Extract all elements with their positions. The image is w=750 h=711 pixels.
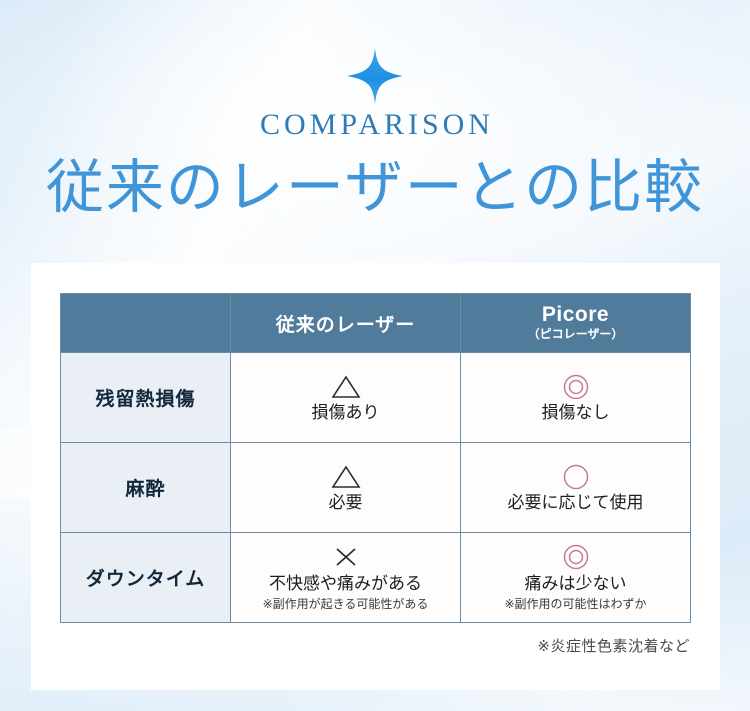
table-header-picore: Picore （ピコレーザー）	[461, 294, 691, 353]
row-label-downtime: ダウンタイム	[61, 533, 231, 623]
cell-text: 痛みは少ない	[461, 574, 690, 594]
section-eyebrow: COMPARISON	[0, 108, 750, 141]
triangle-mark	[231, 372, 460, 402]
sparkle-icon-wrapper	[0, 46, 750, 106]
row-label-anesthesia: 麻酔	[61, 443, 231, 533]
table-header-picore-title: Picore	[461, 304, 690, 325]
comparison-page: COMPARISON 従来のレーザーとの比較 従来のレーザー Picore （ピ…	[0, 0, 750, 711]
table-header-row: 従来のレーザー Picore （ピコレーザー）	[61, 294, 691, 353]
cell-text: 必要に応じて使用	[461, 493, 690, 513]
circle-icon	[561, 463, 591, 491]
triangle-icon	[331, 374, 361, 400]
cross-mark	[231, 543, 460, 573]
comparison-card: 従来のレーザー Picore （ピコレーザー） 残留熱損傷	[31, 263, 720, 690]
cross-icon	[333, 545, 359, 569]
table-head: 従来のレーザー Picore （ピコレーザー）	[61, 294, 691, 353]
table-header-conventional: 従来のレーザー	[231, 294, 461, 353]
cell-conventional-anesthesia: 必要	[231, 443, 461, 533]
cell-text: 損傷なし	[461, 403, 690, 423]
circle-mark	[461, 462, 690, 492]
table-row: ダウンタイム 不快感や痛みがある ※副作用が起きる可能性がある	[61, 533, 691, 623]
triangle-mark	[231, 462, 460, 492]
triangle-icon	[331, 464, 361, 490]
table-header-blank	[61, 294, 231, 353]
double-circle-icon	[561, 543, 591, 571]
double-circle-mark	[461, 543, 690, 573]
cell-note: ※副作用が起きる可能性がある	[231, 597, 460, 613]
cell-picore-anesthesia: 必要に応じて使用	[461, 443, 691, 533]
sparkle-icon	[344, 46, 406, 106]
cell-text: 不快感や痛みがある	[231, 574, 460, 594]
cell-text: 必要	[231, 493, 460, 513]
comparison-table: 従来のレーザー Picore （ピコレーザー） 残留熱損傷	[60, 293, 691, 623]
double-circle-mark	[461, 372, 690, 402]
table-footnote: ※炎症性色素沈着など	[60, 635, 690, 656]
row-label-residual-heat: 残留熱損傷	[61, 353, 231, 443]
cell-conventional-downtime: 不快感や痛みがある ※副作用が起きる可能性がある	[231, 533, 461, 623]
double-circle-icon	[561, 373, 591, 401]
table-row: 麻酔 必要	[61, 443, 691, 533]
page-header: COMPARISON 従来のレーザーとの比較	[0, 0, 750, 222]
cell-picore-residual-heat: 損傷なし	[461, 353, 691, 443]
cell-picore-downtime: 痛みは少ない ※副作用の可能性はわずか	[461, 533, 691, 623]
cell-note: ※副作用の可能性はわずか	[461, 597, 690, 613]
table-header-picore-subtitle: （ピコレーザー）	[461, 327, 690, 343]
cell-conventional-residual-heat: 損傷あり	[231, 353, 461, 443]
table-row: 残留熱損傷 損傷あり	[61, 353, 691, 443]
page-title: 従来のレーザーとの比較	[0, 155, 750, 222]
table-body: 残留熱損傷 損傷あり	[61, 353, 691, 623]
cell-text: 損傷あり	[231, 403, 460, 423]
